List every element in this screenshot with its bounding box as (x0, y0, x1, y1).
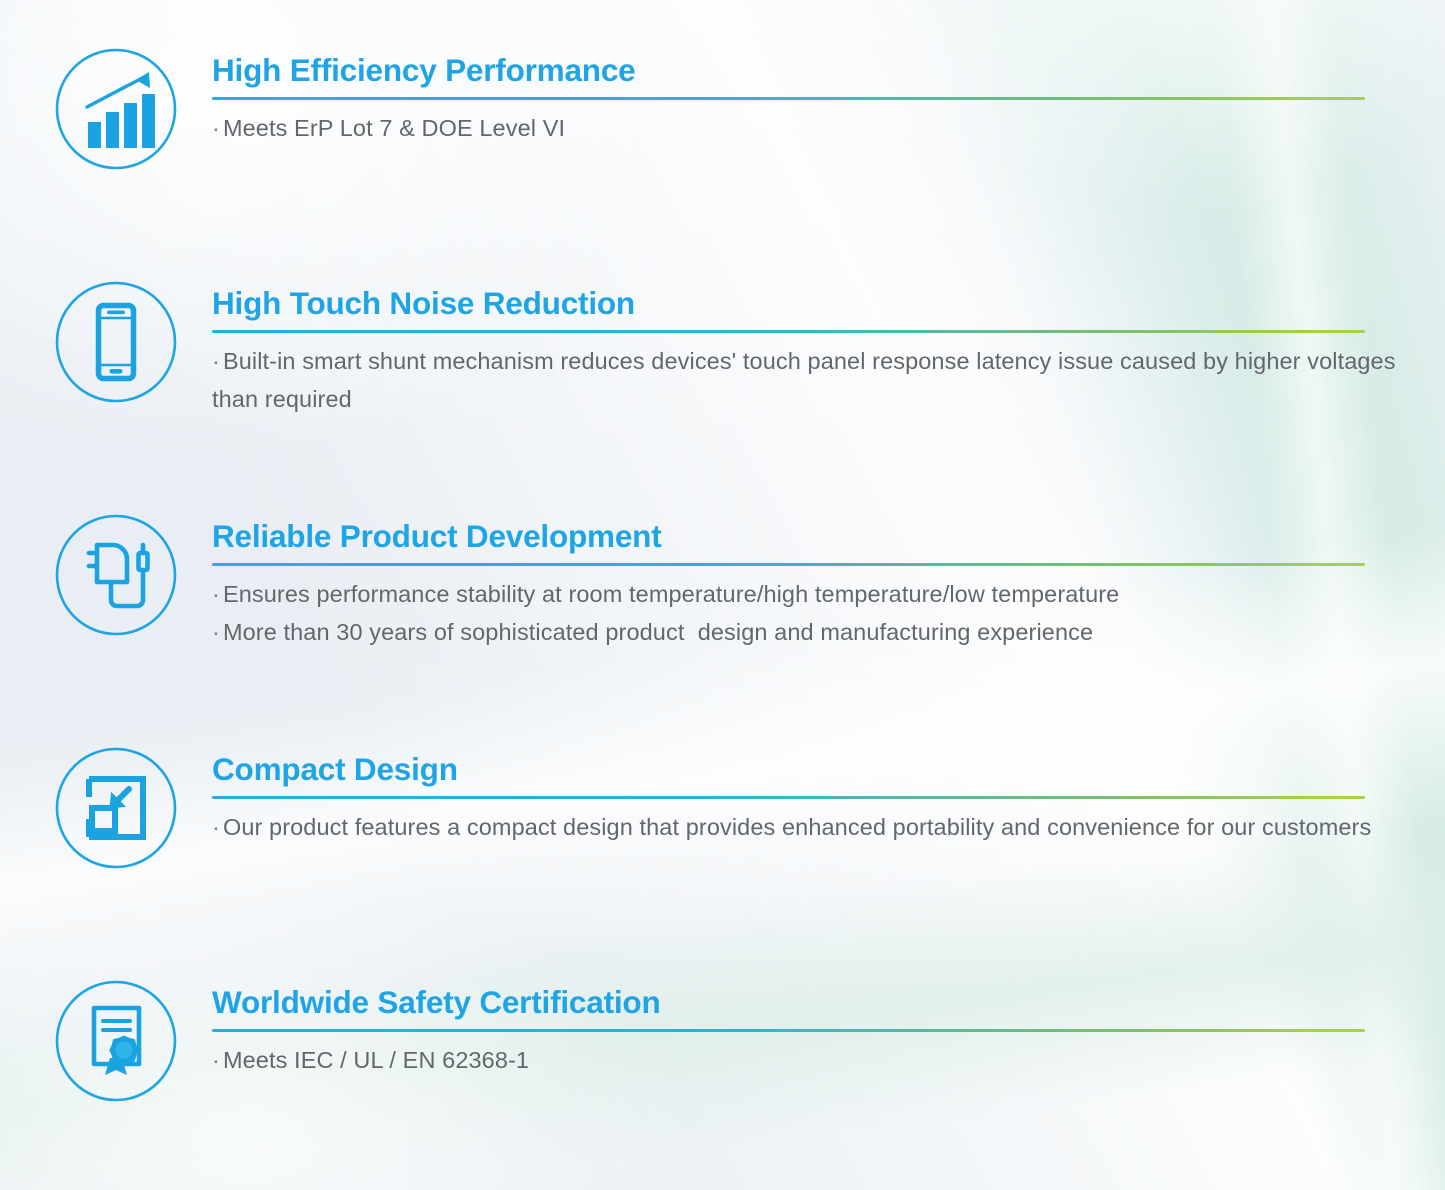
feature-bullet-text: Meets ErP Lot 7 & DOE Level VI (223, 115, 565, 141)
feature-bullet-text: Built-in smart shunt mechanism reduces d… (212, 348, 1402, 412)
feature-text-block: Compact Design ·Our product features a c… (212, 745, 1445, 846)
feature-item: High Efficiency Performance ·Meets ErP L… (0, 46, 1445, 172)
feature-divider (212, 796, 1365, 799)
feature-text-block: Worldwide Safety Certification ·Meets IE… (212, 978, 1445, 1079)
feature-bullet-list: ·Built-in smart shunt mechanism reduces … (212, 342, 1445, 418)
bullet-marker: · (212, 581, 220, 607)
feature-bullet-text: Ensures performance stability at room te… (223, 581, 1119, 607)
feature-title: Compact Design (212, 752, 1445, 787)
feature-bullet: ·More than 30 years of sophisticated pro… (212, 613, 1445, 651)
bullet-marker: · (212, 348, 220, 374)
feature-item: Worldwide Safety Certification ·Meets IE… (0, 978, 1445, 1104)
feature-bullet: ·Meets ErP Lot 7 & DOE Level VI (212, 109, 1445, 147)
bullet-marker: · (212, 619, 220, 645)
feature-bullet: ·Our product features a compact design t… (212, 808, 1445, 846)
feature-title: Worldwide Safety Certification (212, 985, 1445, 1020)
feature-title: Reliable Product Development (212, 519, 1445, 554)
feature-text-block: High Efficiency Performance ·Meets ErP L… (212, 46, 1445, 147)
feature-title: High Efficiency Performance (212, 53, 1445, 88)
feature-bullet: ·Meets IEC / UL / EN 62368-1 (212, 1041, 1445, 1079)
smartphone-icon (53, 279, 179, 405)
bullet-marker: · (212, 115, 220, 141)
feature-bullet: ·Ensures performance stability at room t… (212, 575, 1445, 613)
feature-text-block: High Touch Noise Reduction ·Built-in sma… (212, 279, 1445, 418)
feature-highlights-page: High Efficiency Performance ·Meets ErP L… (0, 0, 1445, 1190)
feature-divider (212, 1029, 1365, 1032)
feature-bullet-list: ·Our product features a compact design t… (212, 808, 1445, 846)
feature-divider (212, 97, 1365, 100)
feature-title: High Touch Noise Reduction (212, 286, 1445, 321)
feature-bullet: ·Built-in smart shunt mechanism reduces … (212, 342, 1445, 418)
feature-divider (212, 330, 1365, 333)
feature-bullet-list: ·Ensures performance stability at room t… (212, 575, 1445, 651)
feature-text-block: Reliable Product Development ·Ensures pe… (212, 512, 1445, 651)
bar-chart-growth-icon (53, 46, 179, 172)
feature-item: Reliable Product Development ·Ensures pe… (0, 512, 1445, 651)
bullet-marker: · (212, 1047, 220, 1073)
compact-resize-icon (53, 745, 179, 871)
feature-item: High Touch Noise Reduction ·Built-in sma… (0, 279, 1445, 418)
feature-divider (212, 563, 1365, 566)
feature-bullet-text: Meets IEC / UL / EN 62368-1 (223, 1047, 529, 1073)
feature-item: Compact Design ·Our product features a c… (0, 745, 1445, 871)
feature-bullet-text: Our product features a compact design th… (223, 814, 1371, 840)
feature-bullet-list: ·Meets IEC / UL / EN 62368-1 (212, 1041, 1445, 1079)
feature-bullet-list: ·Meets ErP Lot 7 & DOE Level VI (212, 109, 1445, 147)
feature-bullet-text: More than 30 years of sophisticated prod… (223, 619, 1093, 645)
certificate-seal-icon (53, 978, 179, 1104)
power-adapter-icon (53, 512, 179, 638)
bullet-marker: · (212, 814, 220, 840)
